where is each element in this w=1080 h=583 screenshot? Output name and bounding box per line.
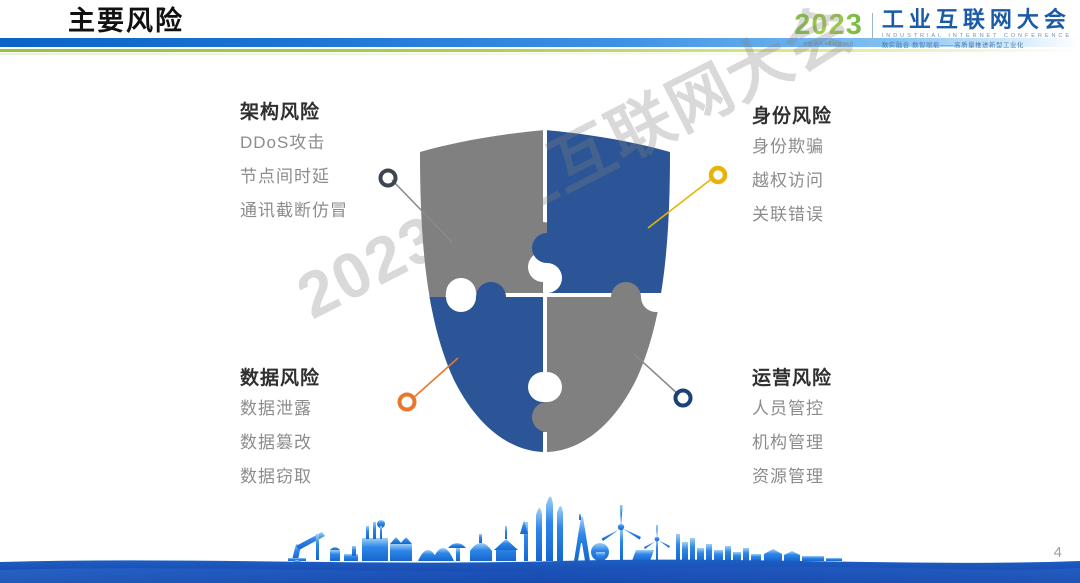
risk-item: 节点间时延 [240,160,455,194]
risk-block-heading: 数据风险 [240,366,455,392]
slide-canvas: 主要风险 2023 中国·苏州 9月14日-16日 工业互联网大会 INDUST… [0,0,1080,583]
risk-item: 身份欺骗 [752,130,967,164]
page-number: 4 [1054,545,1062,561]
risk-item: 越权访问 [752,164,967,198]
risk-item: 数据篡改 [240,426,455,460]
city-skyline-footer [0,488,1080,583]
risk-block-operation: 运营风险 人员管控 机构管理 资源管理 [752,366,967,494]
operation-risk-connector [634,354,691,406]
risk-item: 关联错误 [752,198,967,232]
risk-block-heading: 运营风险 [752,366,967,392]
risk-item: 机构管理 [752,426,967,460]
risk-item: DDoS攻击 [240,126,455,160]
risk-item: 数据泄露 [240,392,455,426]
risk-item: 通讯截断仿冒 [240,194,455,228]
risk-block-architecture: 架构风险 DDoS攻击 节点间时延 通讯截断仿冒 [240,100,455,228]
risk-block-identity: 身份风险 身份欺骗 越权访问 关联错误 [752,104,967,232]
puzzle-piece-top-right [532,128,672,293]
skyline-silhouette [288,497,842,569]
risk-block-heading: 身份风险 [752,104,967,130]
risk-block-heading: 架构风险 [240,100,455,126]
risk-block-data: 数据风险 数据泄露 数据篡改 数据窃取 [240,366,455,494]
risk-item: 人员管控 [752,392,967,426]
